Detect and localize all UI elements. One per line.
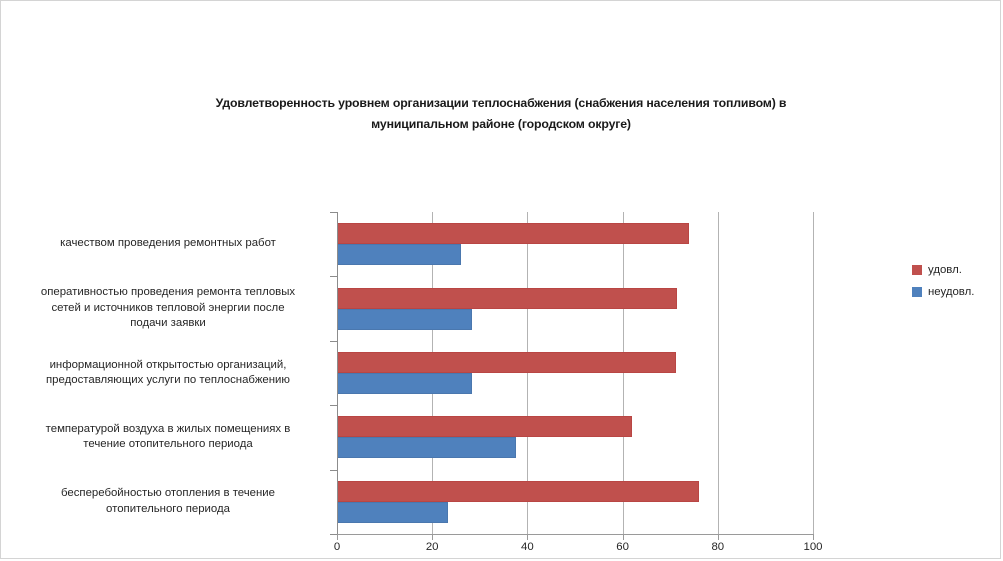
y-tick-mark-3 — [330, 405, 337, 406]
chart-title-line-1: Удовлетворенность уровнем организации те… — [91, 93, 911, 114]
category-label-1: качеством проведения ремонтных работ — [9, 236, 327, 252]
x-tick-label-40: 40 — [502, 541, 552, 553]
category-label-3: информационной открытостью организаций,п… — [9, 358, 327, 389]
x-tick-mark-80 — [718, 534, 719, 540]
category-label-line: информационной открытостью организаций, — [9, 358, 327, 374]
legend-item-neudovl[interactable]: неудовл. — [912, 281, 998, 303]
bar-udovl-1 — [337, 223, 689, 244]
x-tick-mark-40 — [527, 534, 528, 540]
category-label-line: оперативностью проведения ремонта теплов… — [9, 285, 327, 301]
x-tick-label-60: 60 — [598, 541, 648, 553]
legend-label: удовл. — [928, 264, 962, 276]
category-label-line: отопительного периода — [9, 502, 327, 518]
y-tick-mark-4 — [330, 470, 337, 471]
x-tick-mark-60 — [623, 534, 624, 540]
gridline-x-80 — [718, 212, 719, 534]
chart-container: Удовлетворенность уровнем организации те… — [0, 0, 1001, 559]
bar-udovl-3 — [337, 352, 676, 373]
x-tick-label-0: 0 — [312, 541, 362, 553]
y-axis-line — [337, 212, 338, 534]
legend-label: неудовл. — [928, 286, 974, 298]
bar-udovl-4 — [337, 416, 632, 437]
y-tick-mark-2 — [330, 341, 337, 342]
category-axis-labels: качеством проведения ремонтных работопер… — [9, 212, 327, 534]
legend-swatch-icon — [912, 265, 922, 275]
category-label-4: температурой воздуха в жилых помещениях … — [9, 422, 327, 453]
bar-udovl-5 — [337, 481, 699, 502]
category-label-line: температурой воздуха в жилых помещениях … — [9, 422, 327, 438]
y-tick-mark-1 — [330, 276, 337, 277]
chart-title-line-2: муниципальном районе (городском округе) — [91, 114, 911, 135]
bar-neudovl-5 — [337, 502, 448, 523]
x-tick-mark-0 — [337, 534, 338, 540]
bar-neudovl-1 — [337, 244, 461, 265]
category-label-2: оперативностью проведения ремонта теплов… — [9, 285, 327, 332]
category-label-line: подачи заявки — [9, 316, 327, 332]
x-tick-mark-100 — [813, 534, 814, 540]
x-tick-mark-20 — [432, 534, 433, 540]
category-label-5: бесперебойностью отопления в течениеотоп… — [9, 486, 327, 517]
x-tick-label-20: 20 — [407, 541, 457, 553]
bar-neudovl-4 — [337, 437, 516, 458]
chart-title: Удовлетворенность уровнем организации те… — [91, 93, 911, 135]
category-label-line: предоставляющих услуги по теплоснабжению — [9, 373, 327, 389]
y-tick-mark-0 — [330, 212, 337, 213]
legend-item-udovl[interactable]: удовл. — [912, 259, 998, 281]
x-tick-label-80: 80 — [693, 541, 743, 553]
gridline-x-100 — [813, 212, 814, 534]
bar-neudovl-2 — [337, 309, 472, 330]
category-label-line: качеством проведения ремонтных работ — [9, 236, 327, 252]
bar-udovl-2 — [337, 288, 677, 309]
x-axis-line — [337, 534, 814, 535]
legend-swatch-icon — [912, 287, 922, 297]
y-tick-mark-5 — [330, 534, 337, 535]
x-tick-label-100: 100 — [788, 541, 838, 553]
bar-neudovl-3 — [337, 373, 472, 394]
plot-area — [337, 212, 813, 534]
category-label-line: бесперебойностью отопления в течение — [9, 486, 327, 502]
category-label-line: сетей и источников тепловой энергии посл… — [9, 301, 327, 317]
category-label-line: течение отопительного периода — [9, 437, 327, 453]
chart-legend: удовл.неудовл. — [912, 259, 998, 303]
